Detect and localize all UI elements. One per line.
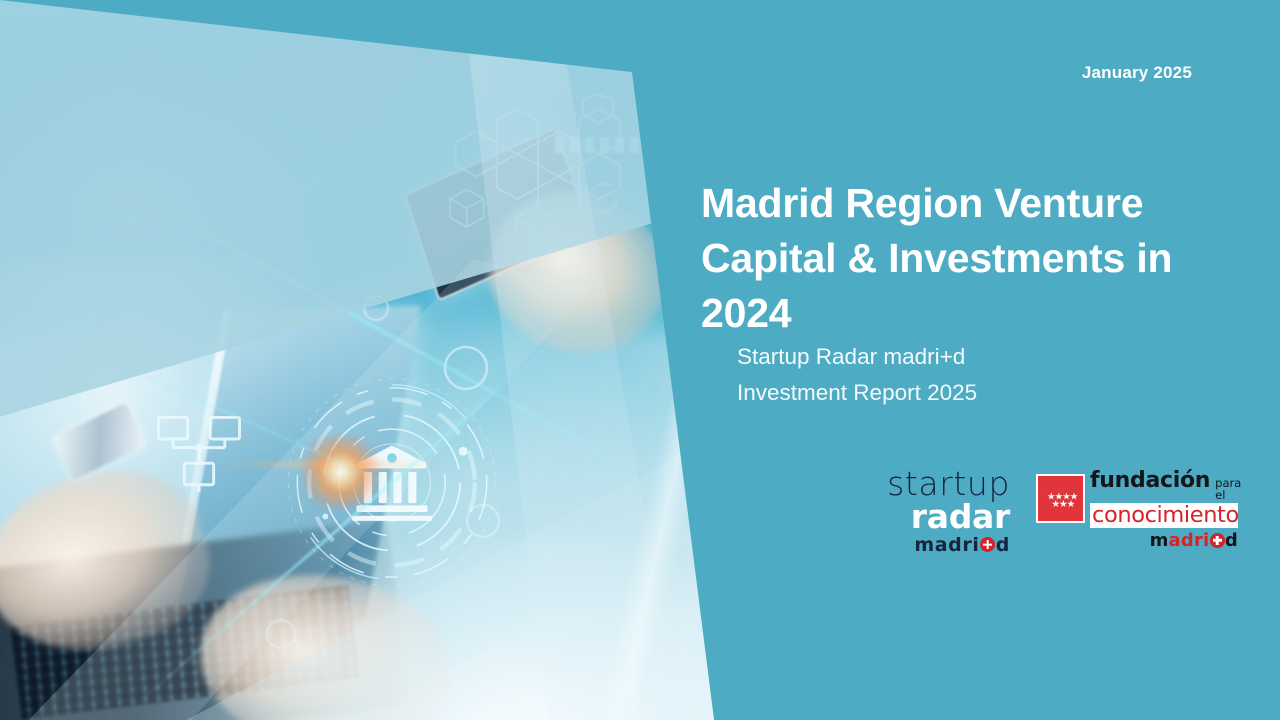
title-slide: January 2025 Madrid Region Venture Capit…	[0, 0, 1280, 720]
logo-madrid-prefix: madri	[914, 534, 979, 556]
hexagon-network-graphic	[414, 94, 666, 281]
fundacion-wordmark: fundación para el conocimiento madrid	[1090, 470, 1238, 550]
fundacion-line-3: madrid	[1090, 532, 1238, 550]
logo-word-madrid: madrid	[1150, 530, 1238, 551]
logo-madrid-d: d	[1225, 530, 1238, 551]
logo-madrid-adri: adri	[1169, 530, 1210, 551]
hud-satellite-ring	[363, 295, 389, 321]
madrid-coat-of-arms-icon	[1036, 474, 1085, 523]
hero-photo	[0, 0, 740, 720]
subtitle-line-2: Investment Report 2025	[737, 375, 1207, 411]
logo-word-fundacion: fundación	[1090, 470, 1210, 492]
subtitle-line-1: Startup Radar madri+d	[737, 339, 1207, 375]
logo-madrid-suffix: d	[996, 534, 1010, 556]
logo-row: startup radar madrid	[840, 462, 1250, 574]
logo-word-conocimiento: conocimiento	[1092, 502, 1239, 528]
startup-radar-madrid-logo: startup radar madrid	[850, 468, 1010, 558]
logo-word-startup: startup	[850, 468, 1010, 500]
red-plus-icon	[980, 537, 996, 553]
logo-word-radar: radar	[850, 500, 1010, 534]
monitor-network-icon	[148, 403, 252, 518]
page-title: Madrid Region Venture Capital & Investme…	[701, 176, 1201, 340]
logo-madrid-m: m	[1150, 530, 1169, 551]
fundacion-line-2: conocimiento	[1090, 503, 1238, 528]
red-plus-icon	[1210, 533, 1225, 548]
logo-word-para-el: para el	[1215, 478, 1241, 501]
slide-subtitle: Startup Radar madri+d Investment Report …	[737, 339, 1207, 412]
sky-glow	[252, 533, 740, 720]
slide-date: January 2025	[1082, 63, 1192, 83]
fundacion-conocimiento-madrid-logo: fundación para el conocimiento madrid	[1036, 470, 1236, 562]
digital-ticker-marks	[555, 137, 659, 153]
logo-word-madrid: madrid	[850, 534, 1010, 558]
fundacion-line-1: fundación para el	[1090, 470, 1238, 501]
